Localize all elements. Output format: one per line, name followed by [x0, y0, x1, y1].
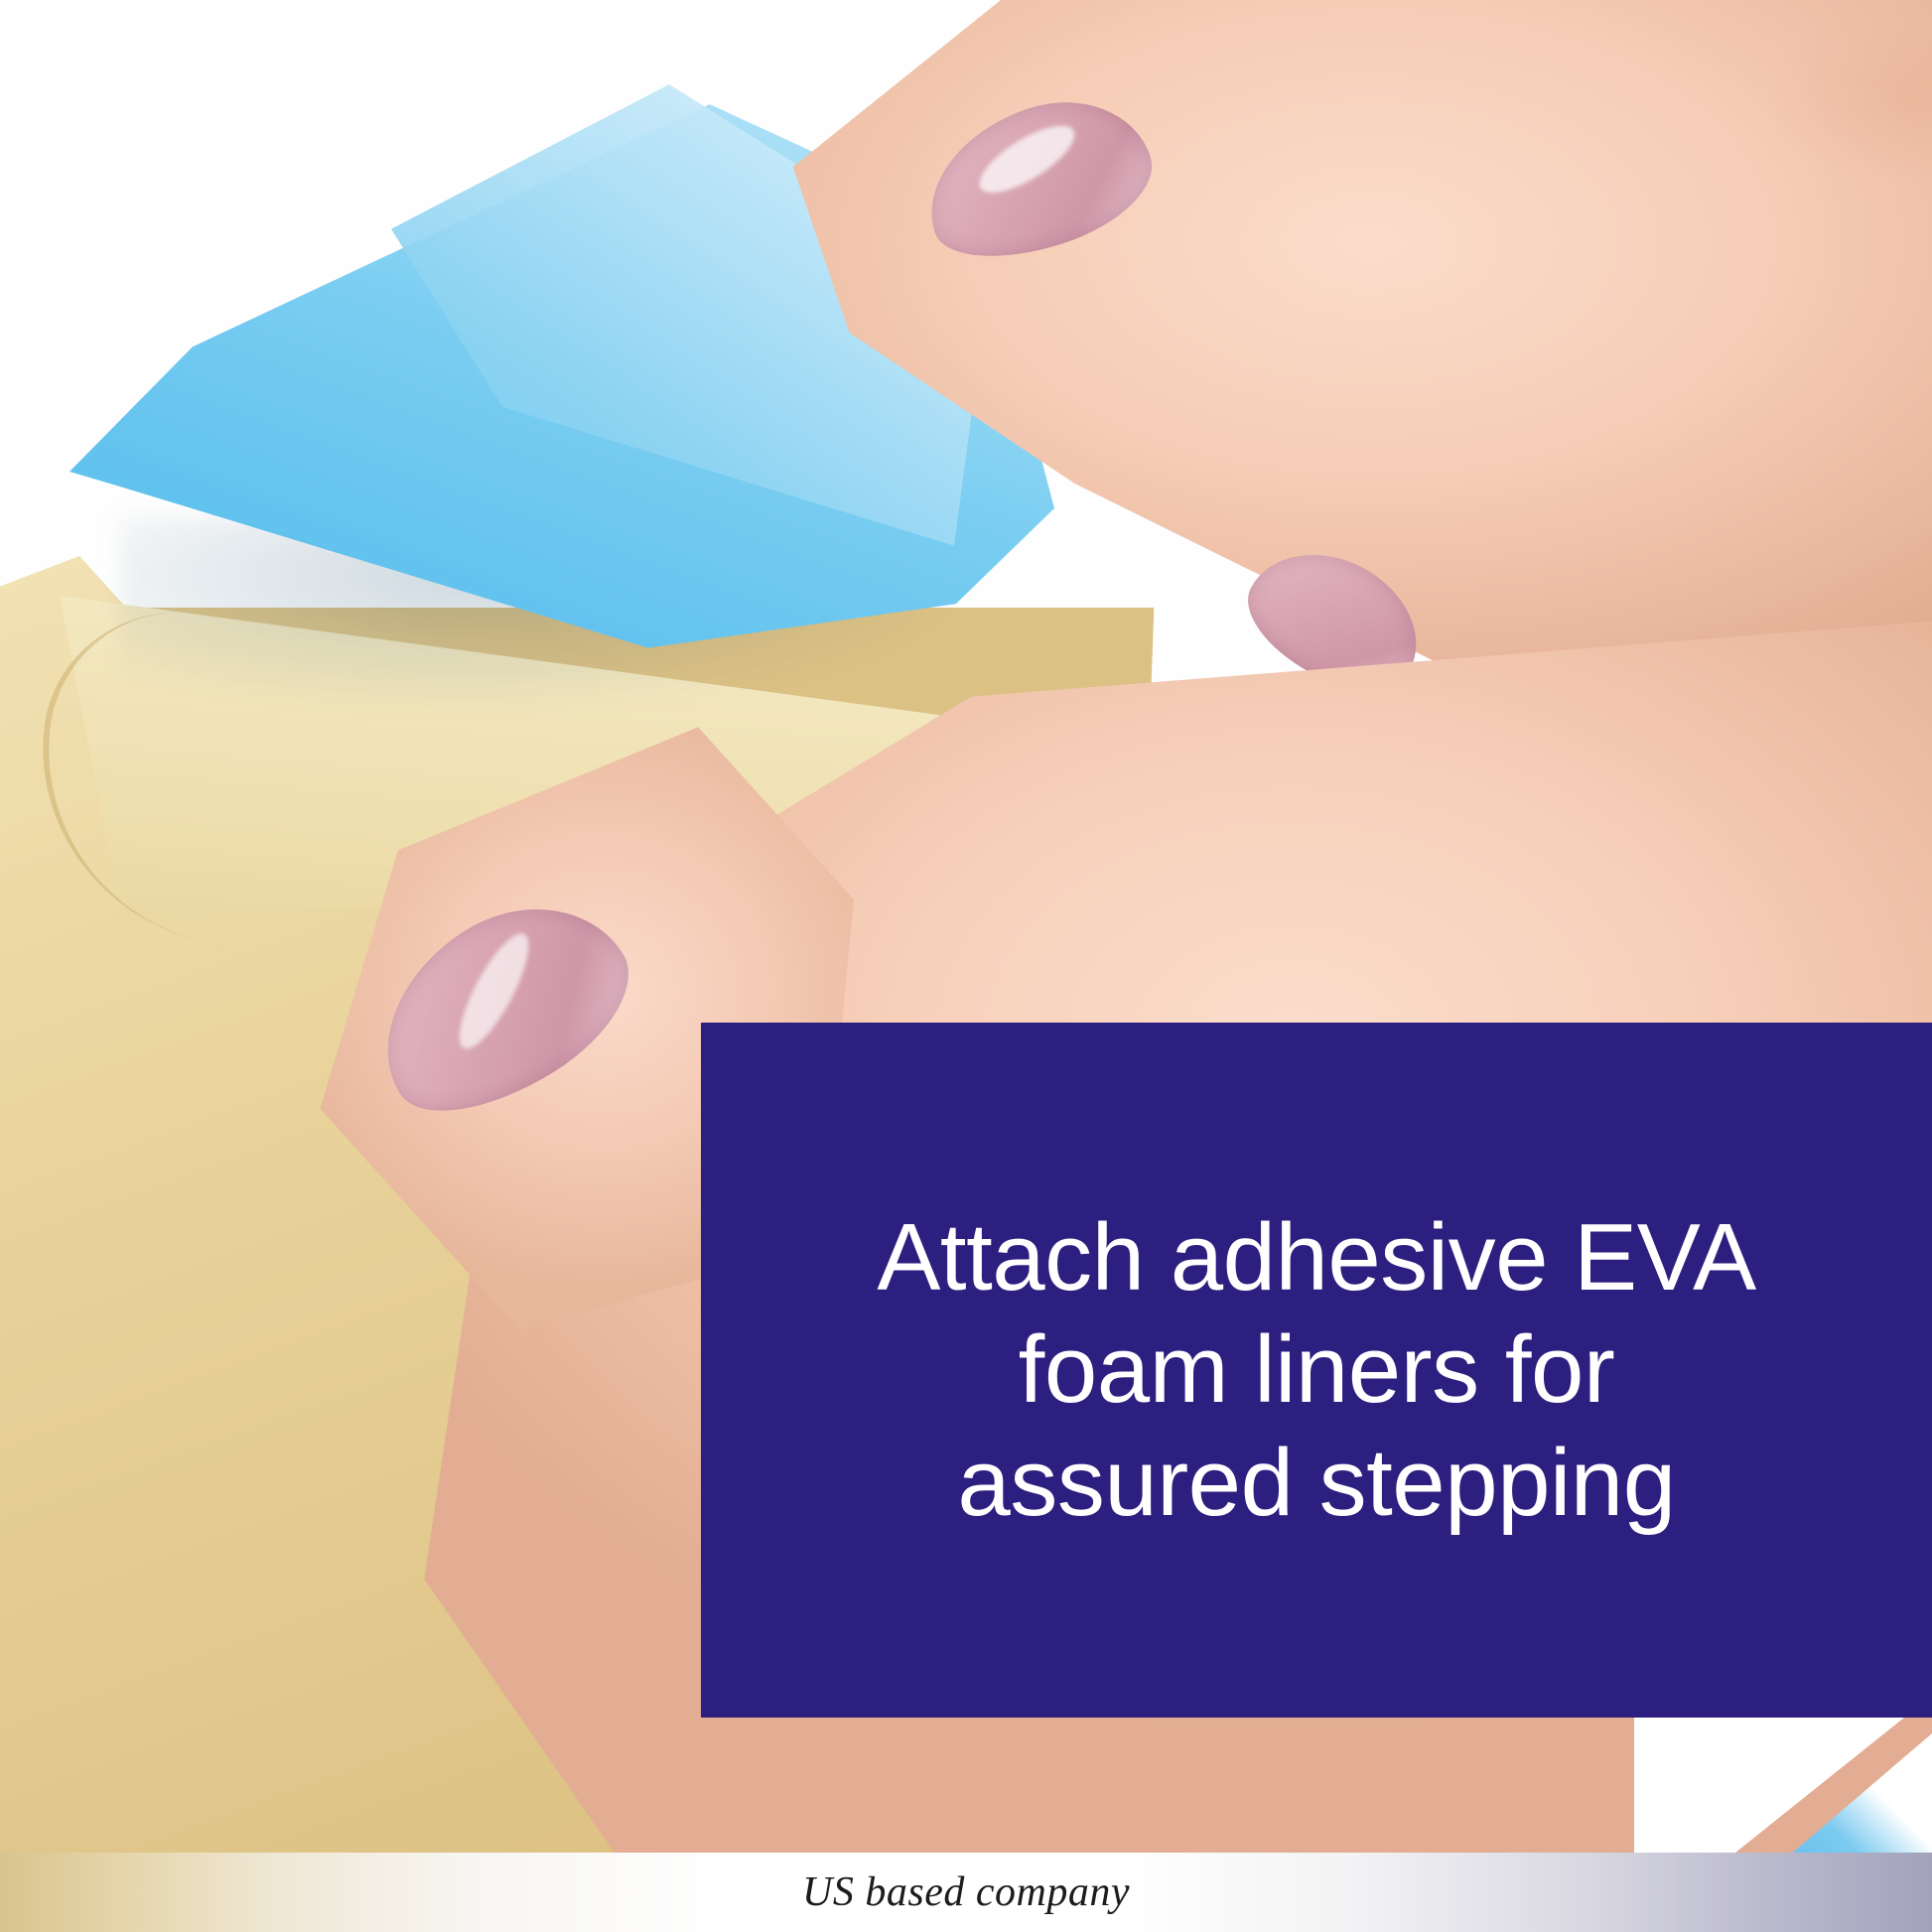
upper-hand-knuckles: [1767, 0, 1932, 367]
product-infographic: Attach adhesive EVA foam liners for assu…: [0, 0, 1932, 1932]
footer-bar: US based company: [0, 1853, 1932, 1932]
caption-line-3: assured stepping: [877, 1427, 1755, 1539]
caption-line-2: foam liners for: [877, 1313, 1755, 1426]
footer-label: US based company: [802, 1868, 1130, 1916]
caption-line-1: Attach adhesive EVA: [877, 1201, 1755, 1313]
caption-panel: Attach adhesive EVA foam liners for assu…: [701, 1023, 1932, 1718]
caption-text-block: Attach adhesive EVA foam liners for assu…: [877, 1201, 1755, 1539]
